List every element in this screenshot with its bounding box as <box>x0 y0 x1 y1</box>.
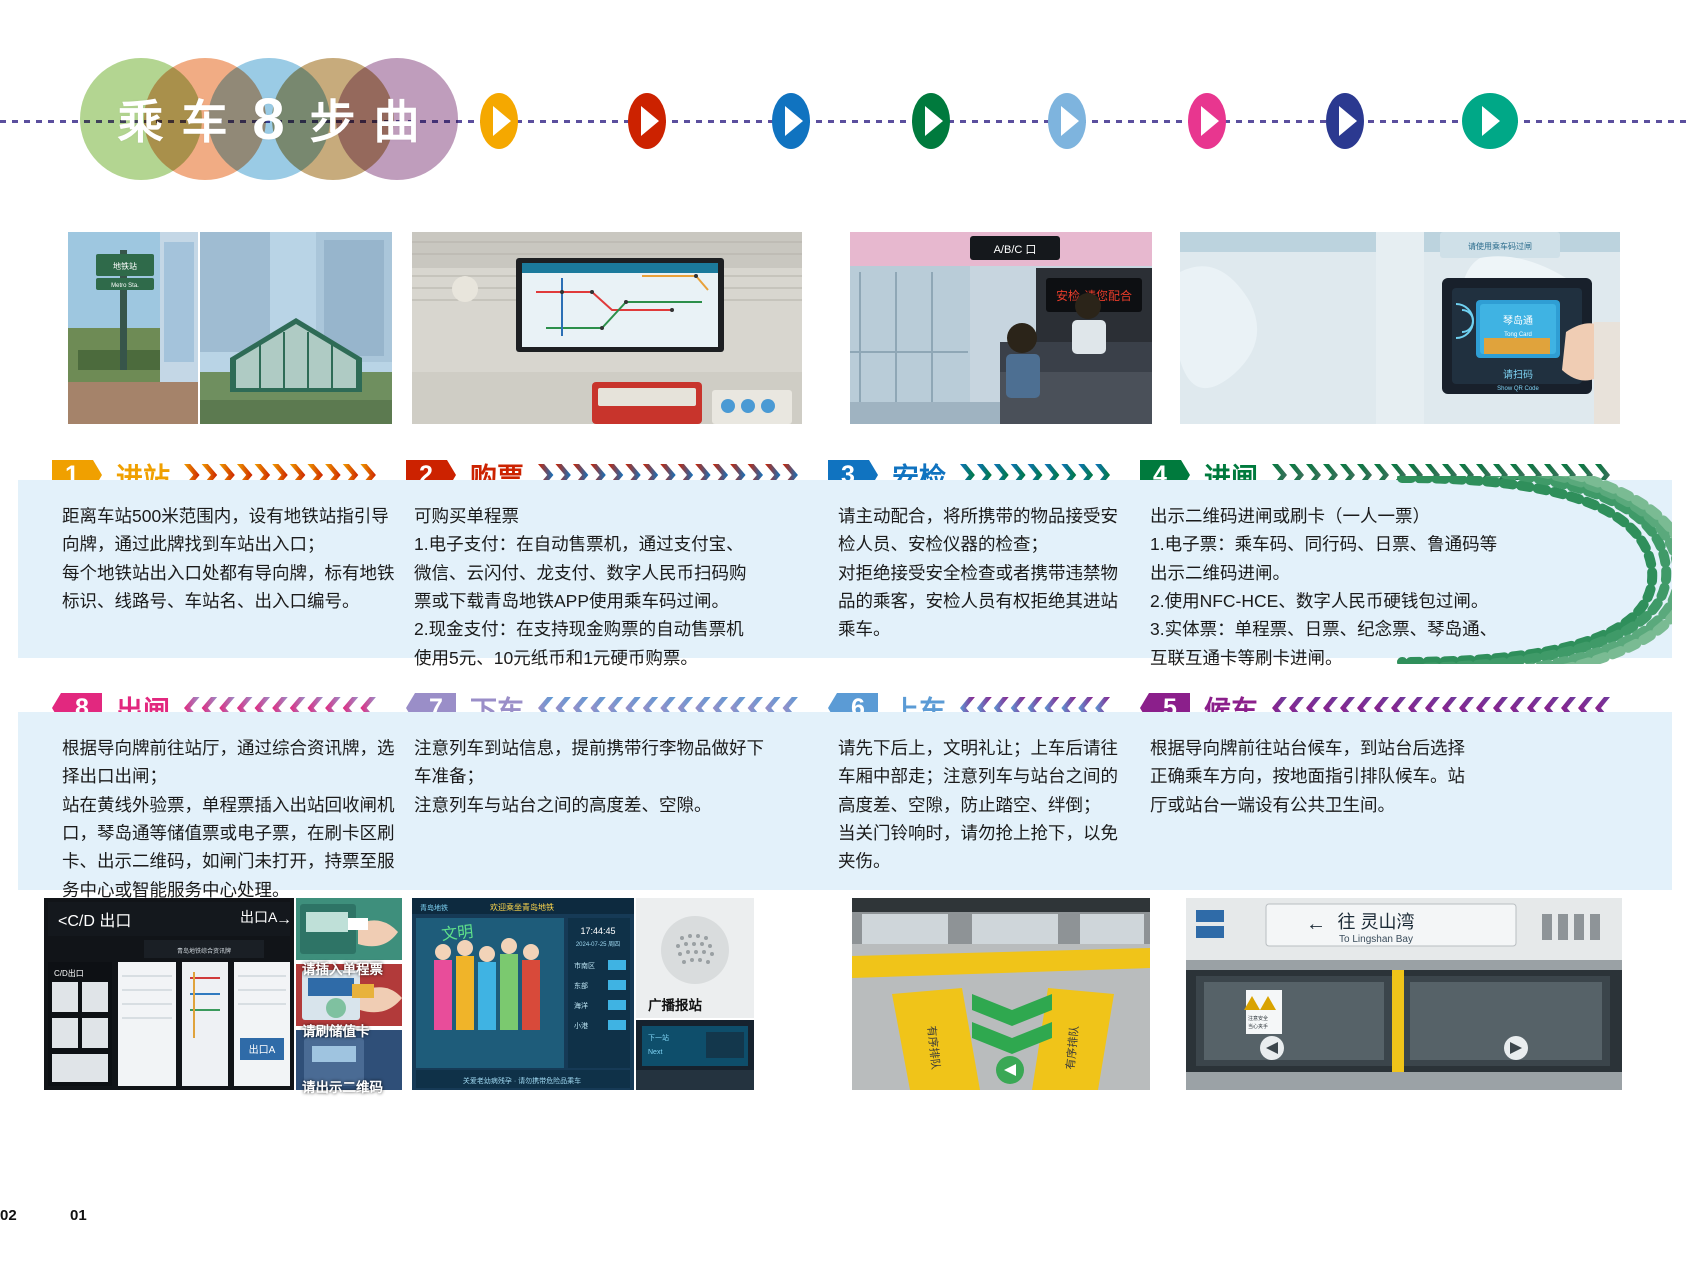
text-panel-bottom: 根据导向牌前往站厅，通过综合资讯牌，选择出口出闸；站在黄线外验票，单程票插入出站… <box>18 712 1672 890</box>
step-text-3: 请主动配合，将所携带的物品接受安检人员、安检仪器的检查；对拒绝接受安全检查或者携… <box>838 502 1128 644</box>
top-banner: 乘 车 8 步 曲 <box>0 0 1690 200</box>
svg-text:2024-07-25 周四: 2024-07-25 周四 <box>576 941 620 948</box>
step-text-8: 根据导向牌前往站厅，通过综合资讯牌，选择出口出闸；站在黄线外验票，单程票插入出站… <box>62 734 402 904</box>
svg-text:→: → <box>276 911 292 928</box>
svg-text:关爱老幼病残孕 · 请勿携带危险品乘车: 关爱老幼病残孕 · 请勿携带危险品乘车 <box>463 1076 581 1085</box>
step-text-6: 请先下后上，文明礼让；上车后请往车厢中部走；注意列车与站台之间的高度差、空隙，防… <box>838 734 1128 876</box>
svg-text:青岛地铁综合资讯牌: 青岛地铁综合资讯牌 <box>177 947 231 955</box>
marker-4-icon <box>912 93 950 149</box>
photo-row-top: 地铁站 Metro Sta. <box>0 232 1690 424</box>
svg-text:下一站: 下一站 <box>648 1033 669 1042</box>
page-number-left: 01 <box>70 1207 87 1224</box>
step-text-7: 注意列车到站信息，提前携带行李物品做好下车准备；注意列车与站台之间的高度差、空隙… <box>414 734 774 819</box>
step-text-4: 出示二维码进闸或刷卡（一人一票）1.电子票：乘车码、同行码、日票、鲁通码等出示二… <box>1150 502 1500 672</box>
svg-text:当心夹手: 当心夹手 <box>1248 1023 1268 1030</box>
photo-station-guide-sign: 地铁站 Metro Sta. <box>68 232 198 424</box>
photo-ticket-vending-map <box>412 232 802 424</box>
svg-text:东部: 东部 <box>574 981 588 990</box>
svg-text:Metro Sta.: Metro Sta. <box>111 283 139 289</box>
marker-7-icon <box>1326 93 1364 149</box>
paragraph: 注意列车与站台之间的高度差、空隙。 <box>414 791 774 819</box>
marker-2-icon <box>628 93 666 149</box>
caption-insert-single-ticket: 请插入单程票 <box>302 958 383 978</box>
photo-security-check: A/B/C 口 安检·请您配合 <box>850 232 1152 424</box>
marker-8-icon <box>1462 93 1518 149</box>
svg-text:海洋: 海洋 <box>574 1001 588 1010</box>
paragraph: 对拒绝接受安全检查或者携带违禁物品的乘客，安检人员有权拒绝其进站乘车。 <box>838 559 1128 644</box>
svg-text:注意安全: 注意安全 <box>1248 1015 1268 1022</box>
svg-text:To Lingshan Bay: To Lingshan Bay <box>1339 934 1413 945</box>
svg-text:青岛地铁: 青岛地铁 <box>420 903 448 912</box>
svg-text:市南区: 市南区 <box>574 961 595 970</box>
paragraph: 请先下后上，文明礼让；上车后请往车厢中部走；注意列车与站台之间的高度差、空隙，防… <box>838 734 1128 819</box>
svg-text:往 灵山湾: 往 灵山湾 <box>1337 912 1414 932</box>
paragraph: 请主动配合，将所携带的物品接受安检人员、安检仪器的检查； <box>838 502 1128 559</box>
page-title: 乘 车 8 步 曲 <box>80 58 460 180</box>
svg-text:←: ← <box>1306 913 1326 935</box>
paragraph: 每个地铁站出入口处都有导向牌，标有地铁标识、线路号、车站名、出入口编号。 <box>62 559 402 616</box>
marker-1-icon <box>480 93 518 149</box>
brochure-page: 乘 车 8 步 曲 地铁站 Metro Sta. <box>0 0 1690 1276</box>
paragraph: 当关门铃响时，请勿抢上抢下，以免夹伤。 <box>838 819 1128 876</box>
svg-text:欢迎乘坐青岛地铁: 欢迎乘坐青岛地铁 <box>490 902 554 912</box>
paragraph: 注意列车到站信息，提前携带行李物品做好下车准备； <box>414 734 774 791</box>
photo-platform-door-direction: ← 往 灵山湾 To Lingshan Bay 注意安全当心夹手 <box>1186 898 1622 1090</box>
paragraph: 站在黄线外验票，单程票插入出站回收闸机口，琴岛通等储值票或电子票，在刷卡区刷卡、… <box>62 791 402 904</box>
svg-text:请使用乘车码过闸: 请使用乘车码过闸 <box>1468 241 1532 251</box>
paragraph: 3.实体票：单程票、日票、纪念票、琴岛通、互联互通卡等刷卡进闸。 <box>1150 615 1500 672</box>
svg-text:A/B/C 口: A/B/C 口 <box>994 244 1037 256</box>
paragraph: 2.现金支付：在支持现金购票的自动售票机使用5元、10元纸币和1元硬币购票。 <box>414 615 754 672</box>
paragraph: 出示二维码进闸或刷卡（一人一票） <box>1150 502 1500 530</box>
svg-text:Tong Card: Tong Card <box>1504 332 1532 338</box>
step-text-1: 距离车站500米范围内，设有地铁站指引导向牌，通过此牌找到车站出入口；每个地铁站… <box>62 502 402 615</box>
photo-gate-usage-steps <box>296 898 402 1090</box>
svg-text:Show QR Code: Show QR Code <box>1497 386 1539 392</box>
svg-text:17:44:45: 17:44:45 <box>580 926 615 936</box>
paragraph: 1.电子票：乘车码、同行码、日票、鲁通码等出示二维码进闸。 <box>1150 530 1500 587</box>
photo-platform-queue-floor: 有序排队 有序排队 <box>852 898 1150 1090</box>
caption-show-qr-code: 请出示二维码 <box>302 1076 383 1096</box>
svg-text:出口A: 出口A <box>240 909 278 925</box>
svg-text:<C/D 出口: <C/D 出口 <box>58 912 131 930</box>
paragraph: 1.电子支付：在自动售票机，通过支付宝、微信、云闪付、龙支付、数字人民币扫码购票… <box>414 530 754 615</box>
svg-text:地铁站: 地铁站 <box>113 261 137 271</box>
svg-text:请扫码: 请扫码 <box>1503 368 1533 381</box>
text-panel-top: 距离车站500米范围内，设有地铁站指引导向牌，通过此牌找到车站出入口；每个地铁站… <box>18 480 1672 658</box>
step-text-2: 可购买单程票1.电子支付：在自动售票机，通过支付宝、微信、云闪付、龙支付、数字人… <box>414 502 754 672</box>
marker-3-icon <box>772 93 810 149</box>
caption-swipe-stored-card: 请刷储值卡 <box>302 1020 370 1040</box>
svg-text:琴岛通: 琴岛通 <box>1503 314 1533 327</box>
paragraph: 距离车站500米范围内，设有地铁站指引导向牌，通过此牌找到车站出入口； <box>62 502 402 559</box>
svg-text:出口A: 出口A <box>249 1043 276 1056</box>
photo-exit-information-board: <C/D 出口 出口A → 青岛地铁综合资讯牌 C/D出口 <box>44 898 294 1090</box>
marker-6-icon <box>1188 93 1226 149</box>
paragraph: 可购买单程票 <box>414 502 754 530</box>
photo-gate-qr-scan: 请使用乘车码过闸 琴岛通 Tong Card 请扫码 Show QR Code <box>1180 232 1620 424</box>
photo-platform-info-screen: 青岛地铁 欢迎乘坐青岛地铁 文明 关爱老幼病残孕 · 请勿携带危险品乘车 <box>412 898 634 1090</box>
page-number-right: 02 <box>0 1207 17 1224</box>
svg-text:小港: 小港 <box>574 1021 588 1030</box>
photo-station-entrance <box>200 232 392 424</box>
svg-text:Next: Next <box>648 1049 662 1056</box>
svg-text:C/D出口: C/D出口 <box>54 968 84 978</box>
paragraph: 2.使用NFC-HCE、数字人民币硬钱包过闸。 <box>1150 587 1500 615</box>
paragraph: 根据导向牌前往站厅，通过综合资讯牌，选择出口出闸； <box>62 734 402 791</box>
caption-broadcast-announce: 广播报站 <box>648 994 702 1014</box>
title-char-5: 曲 <box>336 58 458 180</box>
photo-row-bottom: <C/D 出口 出口A → 青岛地铁综合资讯牌 C/D出口 <box>0 898 1690 1090</box>
svg-text:文明: 文明 <box>441 923 475 944</box>
marker-5-icon <box>1048 93 1086 149</box>
step-text-5: 根据导向牌前往站台候车，到站台后选择正确乘车方向，按地面指引排队候车。站厅或站台… <box>1150 734 1480 819</box>
paragraph: 根据导向牌前往站台候车，到站台后选择正确乘车方向，按地面指引排队候车。站厅或站台… <box>1150 734 1480 819</box>
